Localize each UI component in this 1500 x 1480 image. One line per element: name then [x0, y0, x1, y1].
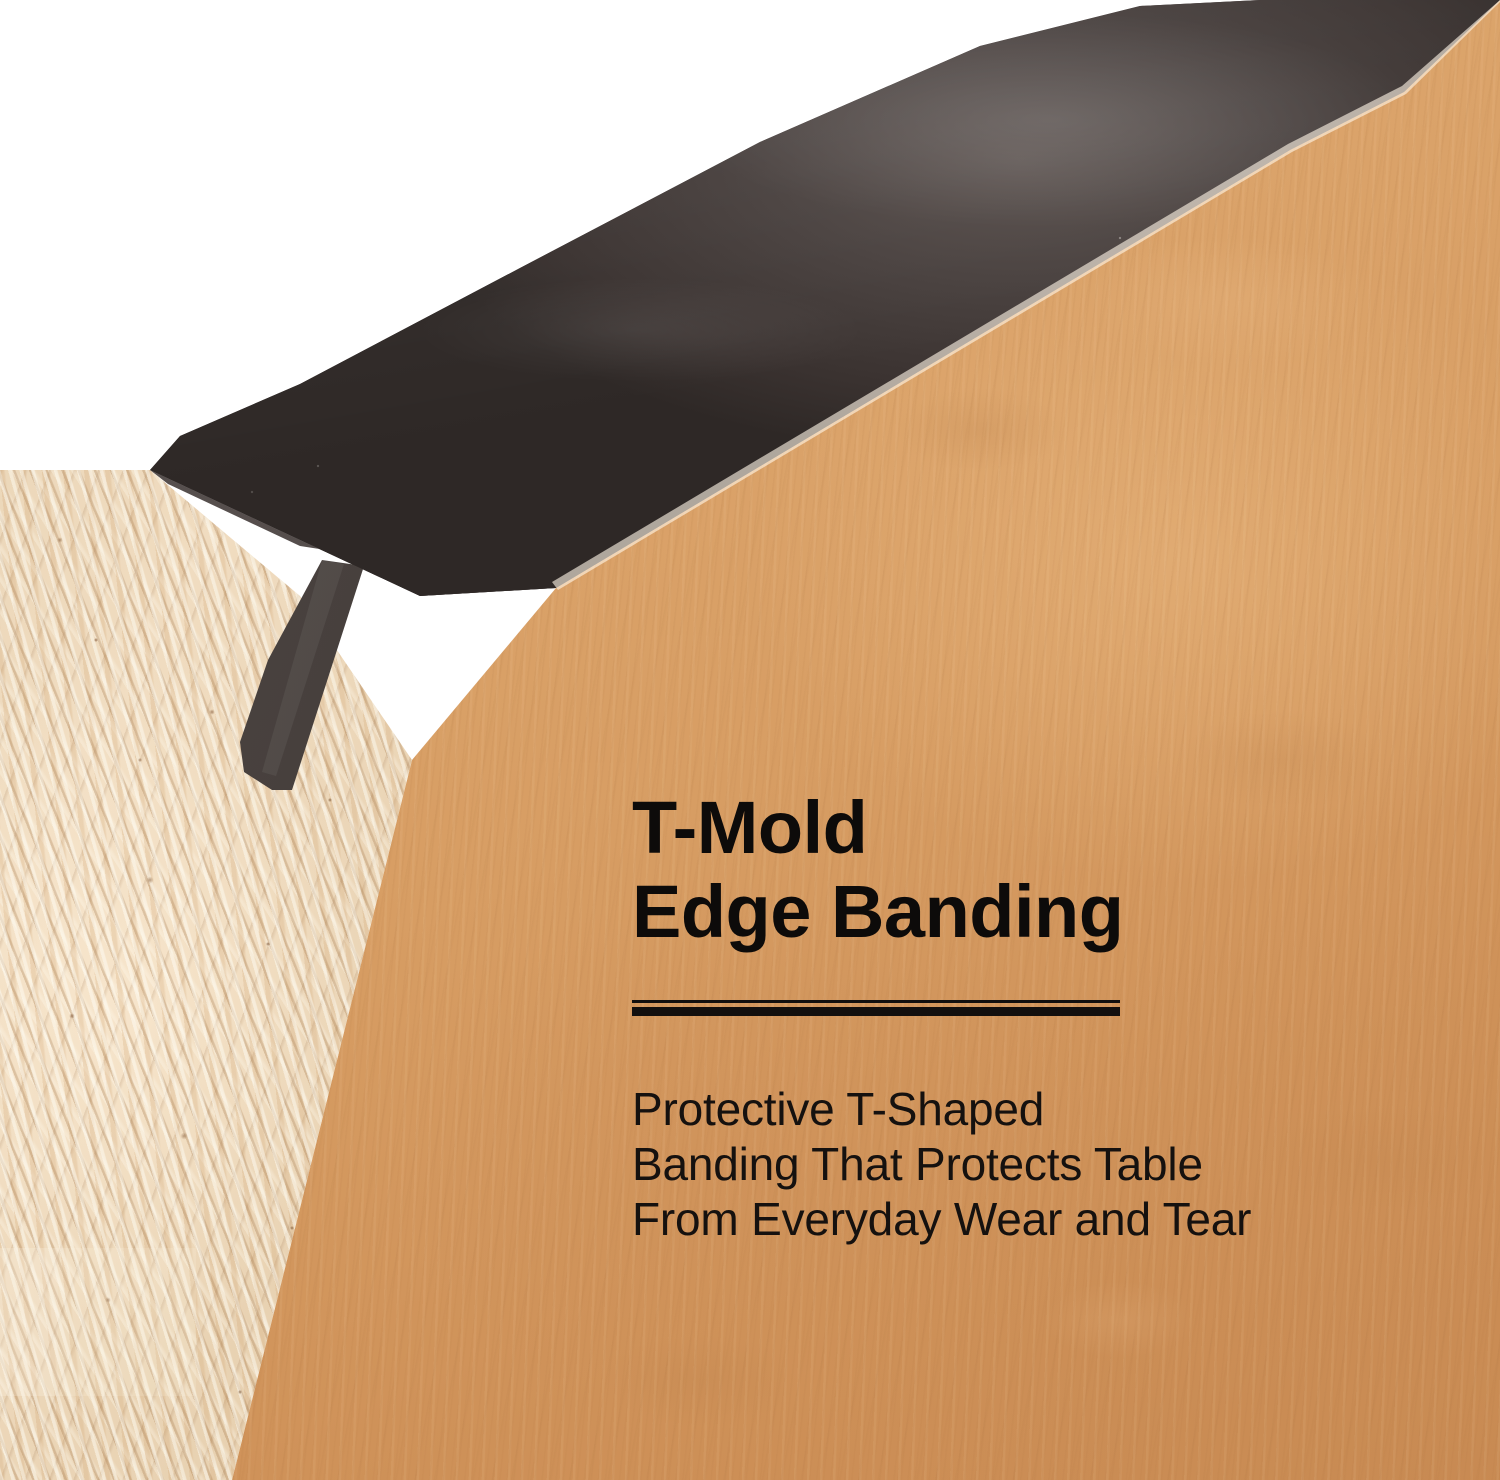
retouch-patch-secondary	[0, 1248, 58, 1396]
product-feature-image: T-Mold Edge Banding Protective T-Shaped …	[0, 0, 1500, 1480]
page-title: T-Mold Edge Banding	[632, 786, 1332, 954]
divider-rule-thick	[632, 1007, 1120, 1016]
double-rule-divider	[632, 1000, 1120, 1016]
feature-description: Protective T-Shaped Banding That Protect…	[632, 1082, 1332, 1247]
feature-text-block: T-Mold Edge Banding Protective T-Shaped …	[632, 786, 1332, 1247]
